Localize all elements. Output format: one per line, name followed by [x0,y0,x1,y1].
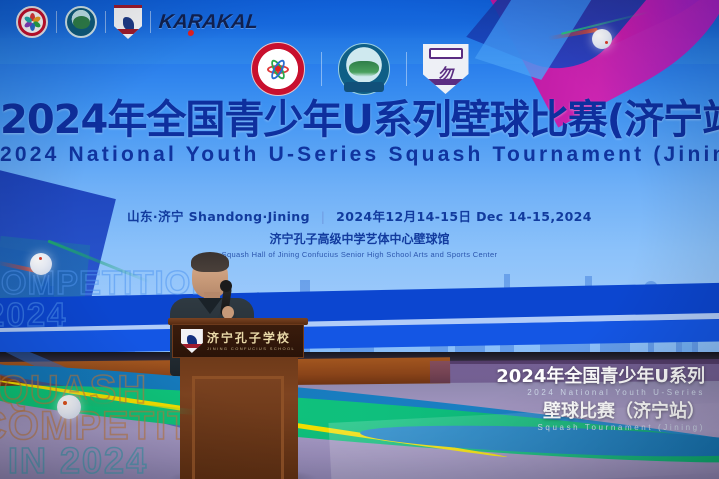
sponsor-logo-shandong [57,6,105,38]
bottom-right-title-overlay: 2024年全国青少年U系列 2024 National Youth U-Seri… [496,368,705,432]
podium-nameplate: 济宁孔子学校 JINING CONFUCIUS SCHOOL [172,324,304,358]
subtitle-dates: 2024年12月14-15日 Dec 14-15,2024 [336,209,592,224]
microphone-head-icon [220,280,232,292]
podium-front-panel [192,376,284,479]
subtitle-venue-chinese: 济宁孔子高级中学艺体中心壁球馆 [0,230,719,247]
shield-badge-icon [114,5,142,39]
school-shield-badge-icon: 勿 [423,44,469,94]
overlay-title-chinese-line1: 2024年全国青少年U系列 [496,368,705,386]
subtitle-venue-english: Squash Hall of Jining Confucius Senior H… [0,250,719,259]
podium-school-logo-icon [181,329,203,353]
sponsor-logo-cssa [8,6,56,38]
sponsor-logo-row: KARAKAL [8,5,266,39]
overlay-title-chinese-line2: 壁球比赛（济宁站） [496,403,705,421]
subtitle-separator: | [321,209,326,224]
main-title-block: 2024年全国青少年U系列壁球比赛(济宁站) 2024 National You… [0,100,719,165]
subtitle-location-date-line: 山东·济宁 Shandong·Jining | 2024年12月14-15日 D… [0,206,719,225]
overlay-title-english-line2: Squash Tournament (Jining) [496,423,705,432]
organiser-logo-row: 勿 [0,40,719,98]
overlay-title-english-line1: 2024 National Youth U-Series [496,388,705,397]
landscape-circular-badge-icon [338,43,390,95]
subtitle-location: 山东·济宁 Shandong·Jining [127,209,310,224]
atom-circular-badge-icon [251,42,305,96]
karakal-label: KARAKAL [158,11,259,33]
organiser-logo-2 [322,43,406,95]
sponsor-logo-school [106,5,150,39]
organiser-logo-1 [235,42,321,96]
speaking-podium: 济宁孔子学校 JINING CONFUCIUS SCHOOL [168,318,308,479]
sponsor-logo-karakal: KARAKAL [151,11,266,34]
speaker-hair [191,252,229,272]
pinwheel-badge-icon [16,6,48,38]
main-title-chinese: 2024年全国青少年U系列壁球比赛(济宁站) [0,100,719,140]
subtitle-block: 山东·济宁 Shandong·Jining | 2024年12月14-15日 D… [0,206,719,259]
squash-ball-icon-bottomleft [57,395,81,419]
main-title-english: 2024 National Youth U-Series Squash Tour… [0,144,719,165]
podium-school-name-english: JINING CONFUCIUS SCHOOL [207,346,295,351]
karakal-red-dot-icon [188,30,195,36]
podium-school-name-chinese: 济宁孔子学校 [207,332,291,344]
karakal-wordmark-icon: KARAKAL [158,11,259,34]
presentation-stage-photo: KARAKAL [0,0,719,479]
organiser-logo-3: 勿 [407,44,485,94]
teal-circular-badge-icon [65,6,97,38]
